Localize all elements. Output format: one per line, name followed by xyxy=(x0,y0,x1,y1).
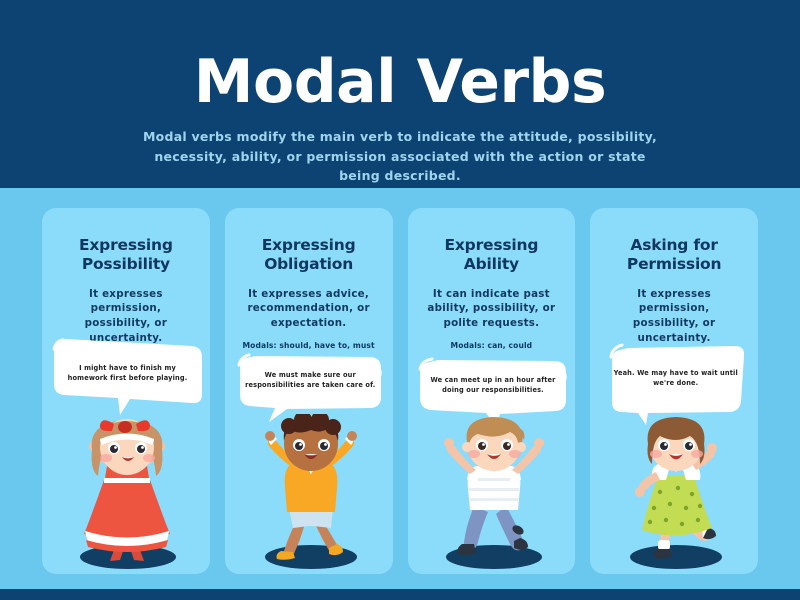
boy-white-tshirt-icon xyxy=(408,414,576,574)
card-modals: Modals: should, have to, must xyxy=(235,341,383,350)
card-description: It expresses advice, recommendation, or … xyxy=(235,287,383,331)
girl-green-dress-icon xyxy=(590,414,758,574)
speech-bubble-text: We can meet up in an hour after doing ou… xyxy=(408,376,576,396)
character-illustration-boy-white-tshirt xyxy=(408,414,576,574)
boy-orange-shirt-icon xyxy=(225,414,393,574)
footer-bar xyxy=(0,589,800,600)
card-title: Expressing Ability xyxy=(418,236,566,274)
card-description: It expresses permission, possibility, or… xyxy=(600,287,748,345)
card-expressing-ability[interactable]: Expressing Ability It can indicate past … xyxy=(408,208,576,574)
header-banner: Modal Verbs Modal verbs modify the main … xyxy=(0,0,800,188)
card-asking-for-permission[interactable]: Asking for Permission It expresses permi… xyxy=(590,208,758,574)
cards-row: Expressing Possibility It expresses perm… xyxy=(42,208,758,574)
card-title: Expressing Possibility xyxy=(52,236,200,274)
card-modals: Modals: can, could xyxy=(418,341,566,350)
character-illustration-girl-green-dress xyxy=(590,414,758,574)
page-title: Modal Verbs xyxy=(194,52,606,113)
card-header: Expressing Obligation It expresses advic… xyxy=(225,208,393,350)
speech-bubble-text: We must make sure our responsibilities a… xyxy=(225,371,393,391)
girl-red-dress-icon xyxy=(42,414,210,574)
character-illustration-girl-red-dress xyxy=(42,414,210,574)
page-subtitle: Modal verbs modify the main verb to indi… xyxy=(140,127,660,185)
card-expressing-obligation[interactable]: Expressing Obligation It expresses advic… xyxy=(225,208,393,574)
card-expressing-possibility[interactable]: Expressing Possibility It expresses perm… xyxy=(42,208,210,574)
speech-bubble: I might have to finish my homework first… xyxy=(42,336,210,416)
card-description: It can indicate past ability, possibilit… xyxy=(418,287,566,331)
infographic-poster: Modal Verbs Modal verbs modify the main … xyxy=(0,0,800,600)
speech-bubble-text: Yeah. We may have to wait until we're do… xyxy=(590,369,758,389)
card-title: Expressing Obligation xyxy=(235,236,383,274)
card-header: Expressing Ability It can indicate past … xyxy=(408,208,576,350)
speech-bubble-text: I might have to finish my homework first… xyxy=(42,364,210,384)
speech-bubble: We must make sure our responsibilities a… xyxy=(225,351,393,423)
character-illustration-boy-orange-shirt xyxy=(225,414,393,574)
card-title: Asking for Permission xyxy=(600,236,748,274)
